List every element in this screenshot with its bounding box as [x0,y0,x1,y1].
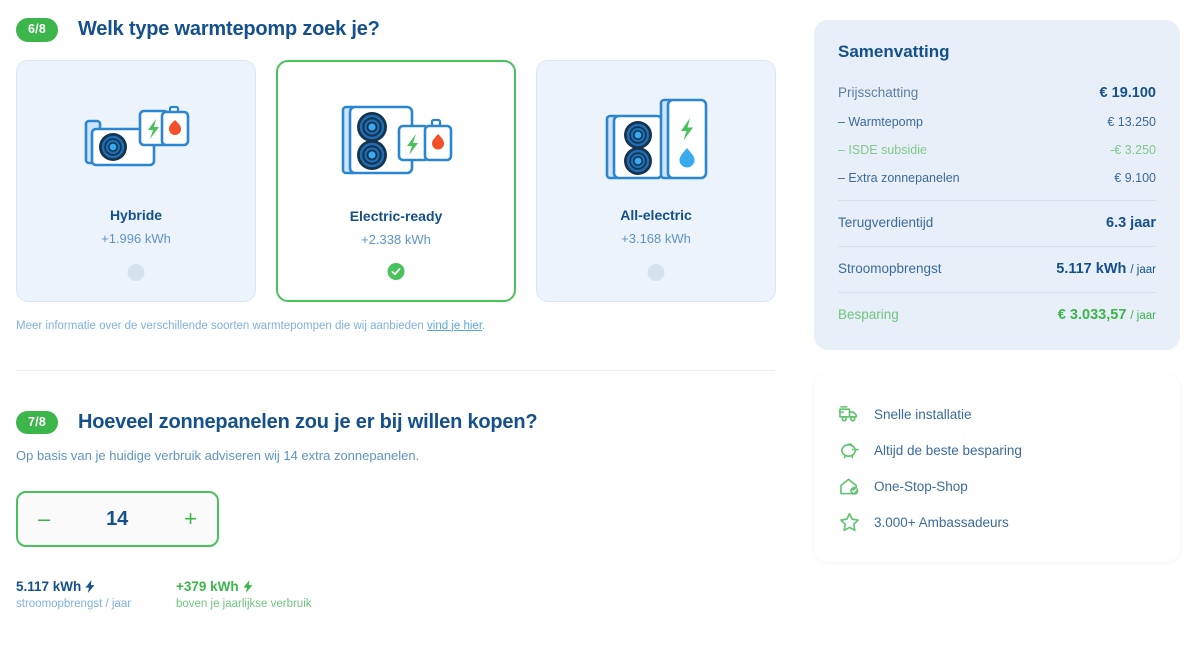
solar-metrics: 5.117 kWh stroomopbrengst / jaar +379 kW… [16,579,776,610]
option-label-all-electric: All-electric [620,207,692,223]
help-text: Meer informatie over de verschillende so… [16,320,427,332]
step-badge-6: 6/8 [16,18,58,42]
summary-row-saving: Besparing € 3.033,57 / jaar [838,292,1156,330]
benefit-label-best-saving: Altijd de beste besparing [874,443,1022,458]
metric-yield-value: 5.117 kWh [16,579,81,594]
summary-row-payback: Terugverdientijd 6.3 jaar [838,200,1156,238]
subsidy-value: -€ 3.250 [1110,143,1156,157]
payback-value: 6.3 jaar [1106,215,1156,231]
solar-question-header: 7/8 Hoeveel zonnepanelen zou je er bij w… [16,411,776,435]
yield-value-wrap: 5.117 kWh / jaar [1056,261,1156,277]
extra-panels-label: – Extra zonnepanelen [838,171,960,185]
saving-value: € 3.033,57 [1058,307,1127,323]
bolt-icon [85,580,95,593]
help-link[interactable]: vind je hier [427,320,482,332]
stepper-value: 14 [106,508,128,531]
summary-column: Samenvatting Prijsschatting € 19.100 – W… [800,0,1200,653]
option-kwh-electric-ready: +2.338 kWh [361,232,431,247]
price-label: Prijsschatting [838,85,918,100]
piggy-bank-icon [838,439,860,461]
saving-label: Besparing [838,307,899,322]
summary-row-price: Prijsschatting € 19.100 [838,78,1156,108]
questions-column: 6/8 Welk type warmtepomp zoek je? [0,0,800,653]
quote-configurator-page: 6/8 Welk type warmtepomp zoek je? [0,0,1200,653]
yield-unit: / jaar [1130,264,1156,276]
all-electric-illustration [599,77,713,203]
option-radio-hybride[interactable] [128,264,145,281]
truck-icon [838,403,860,425]
heatpump-label: – Warmtepomp [838,115,923,129]
section-divider [16,370,775,371]
summary-row-yield: Stroomopbrengst 5.117 kWh / jaar [838,246,1156,284]
option-radio-electric-ready[interactable] [388,263,405,280]
metric-surplus-value-wrap: +379 kWh [176,579,336,594]
stepper-increase-button[interactable]: + [184,508,197,530]
benefit-label-one-stop-shop: One-Stop-Shop [874,479,968,494]
price-value: € 19.100 [1100,85,1156,101]
metric-surplus-label: boven je jaarlijkse verbruik [176,598,336,610]
metric-surplus-value: +379 kWh [176,579,239,594]
benefit-label-ambassadors: 3.000+ Ambassadeurs [874,515,1009,530]
hybride-illustration [80,77,192,203]
saving-unit: / jaar [1130,310,1156,322]
benefit-label-fast-installation: Snelle installatie [874,407,972,422]
option-kwh-all-electric: +3.168 kWh [621,231,691,246]
heat-pump-help-line: Meer informatie over de verschillende so… [16,320,776,332]
bolt-icon [243,580,253,593]
saving-value-wrap: € 3.033,57 / jaar [1058,307,1156,323]
metric-yield-label: stroomopbrengst / jaar [16,598,176,610]
benefit-one-stop-shop: One-Stop-Shop [838,468,1156,504]
star-icon [838,511,860,533]
benefit-ambassadors: 3.000+ Ambassadeurs [838,504,1156,540]
summary-row-subsidy: – ISDE subsidie -€ 3.250 [838,136,1156,164]
panel-quantity-stepper[interactable]: – 14 + [16,491,219,547]
summary-row-heatpump: – Warmtepomp € 13.250 [838,108,1156,136]
summary-panel: Samenvatting Prijsschatting € 19.100 – W… [814,20,1180,350]
heat-pump-options: Hybride +1.996 kWh [16,60,776,302]
subsidy-label: – ISDE subsidie [838,143,927,157]
help-tail: . [482,320,485,332]
solar-question-subtitle: Op basis van je huidige verbruik adviser… [16,448,776,463]
electric-ready-illustration [337,78,455,204]
summary-title: Samenvatting [838,42,1156,62]
metric-surplus: +379 kWh boven je jaarlijkse verbruik [176,579,336,610]
benefits-panel: Snelle installatie Altijd de beste bespa… [814,374,1180,562]
benefit-best-saving: Altijd de beste besparing [838,432,1156,468]
step-badge-7: 7/8 [16,411,58,435]
solar-question-title: Hoeveel zonnepanelen zou je er bij wille… [78,411,537,434]
metric-yield-value-wrap: 5.117 kWh [16,579,176,594]
yield-value: 5.117 kWh [1056,261,1126,277]
solar-panel-question: 7/8 Hoeveel zonnepanelen zou je er bij w… [16,411,776,611]
option-card-hybride[interactable]: Hybride +1.996 kWh [16,60,256,302]
stepper-decrease-button[interactable]: – [38,508,50,530]
payback-label: Terugverdientijd [838,215,933,230]
benefit-fast-installation: Snelle installatie [838,396,1156,432]
summary-row-extra-panels: – Extra zonnepanelen € 9.100 [838,164,1156,192]
heat-pump-question-title: Welk type warmtepomp zoek je? [78,18,380,41]
heatpump-value: € 13.250 [1107,115,1156,129]
yield-label: Stroomopbrengst [838,261,942,276]
metric-yearly-yield: 5.117 kWh stroomopbrengst / jaar [16,579,176,610]
heat-pump-question-header: 6/8 Welk type warmtepomp zoek je? [16,18,776,42]
option-card-electric-ready[interactable]: Electric-ready +2.338 kWh [276,60,516,302]
option-label-electric-ready: Electric-ready [350,208,443,224]
option-radio-all-electric[interactable] [648,264,665,281]
check-icon [391,266,402,277]
extra-panels-value: € 9.100 [1114,171,1156,185]
option-label-hybride: Hybride [110,207,162,223]
option-card-all-electric[interactable]: All-electric +3.168 kWh [536,60,776,302]
house-check-icon [838,475,860,497]
option-kwh-hybride: +1.996 kWh [101,231,171,246]
